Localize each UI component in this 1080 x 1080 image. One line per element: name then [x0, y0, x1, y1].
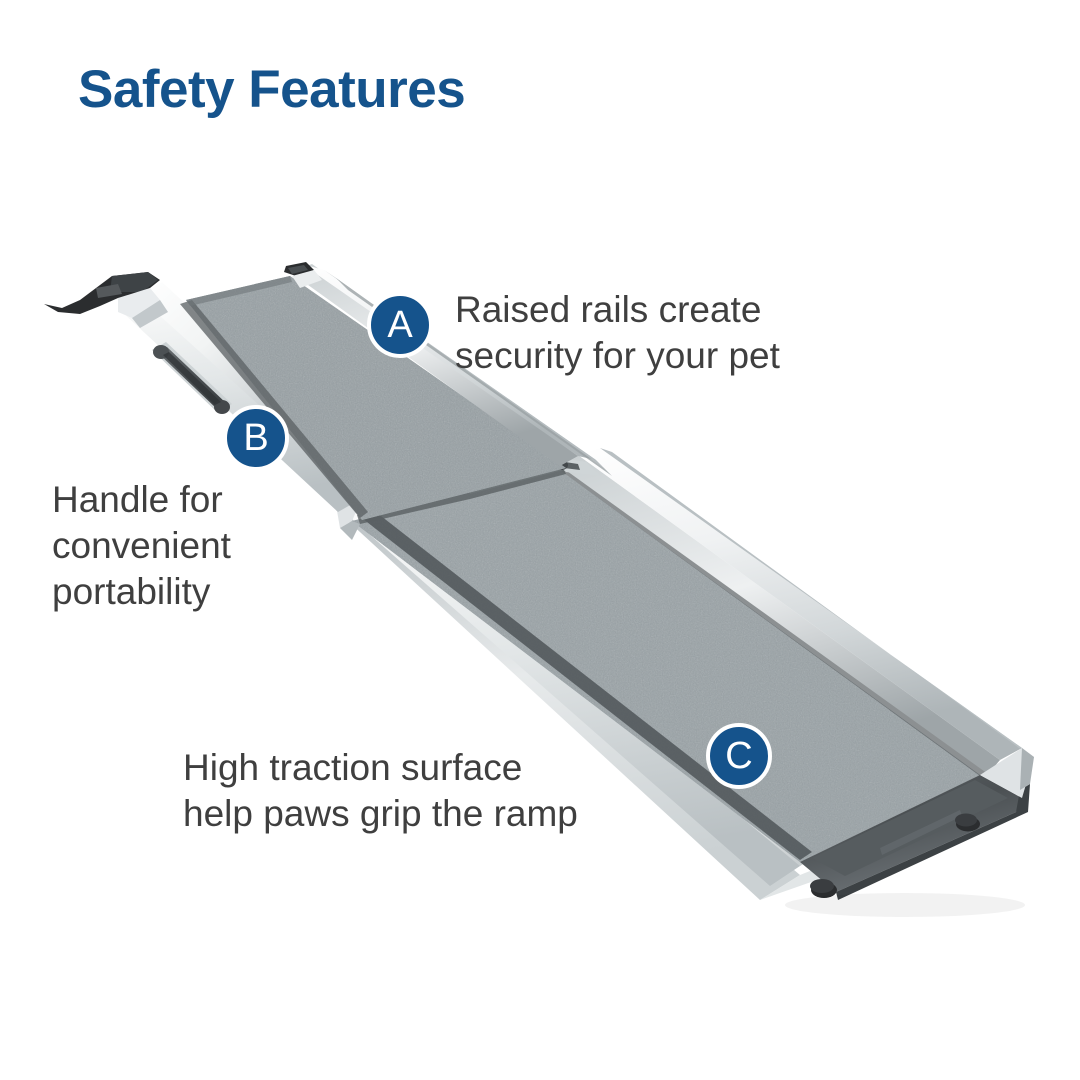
callout-text-c: High traction surface help paws grip the… [183, 745, 578, 837]
callout-marker-b[interactable]: B [223, 405, 289, 471]
callout-text-b: Handle for convenient portability [52, 477, 231, 615]
callout-marker-c[interactable]: C [706, 723, 772, 789]
callout-text-a: Raised rails create security for your pe… [455, 287, 780, 379]
ramp-top-hook [44, 272, 168, 328]
carry-handle [152, 342, 232, 414]
infographic-canvas: Safety Features [0, 0, 1080, 1080]
ramp-underside [336, 498, 1012, 900]
callout-marker-a[interactable]: A [367, 292, 433, 358]
ramp-bottom-end [800, 748, 1034, 900]
ramp-top-right-tip [284, 262, 322, 288]
telescoping-joint [336, 456, 600, 540]
page-title: Safety Features [78, 63, 465, 116]
